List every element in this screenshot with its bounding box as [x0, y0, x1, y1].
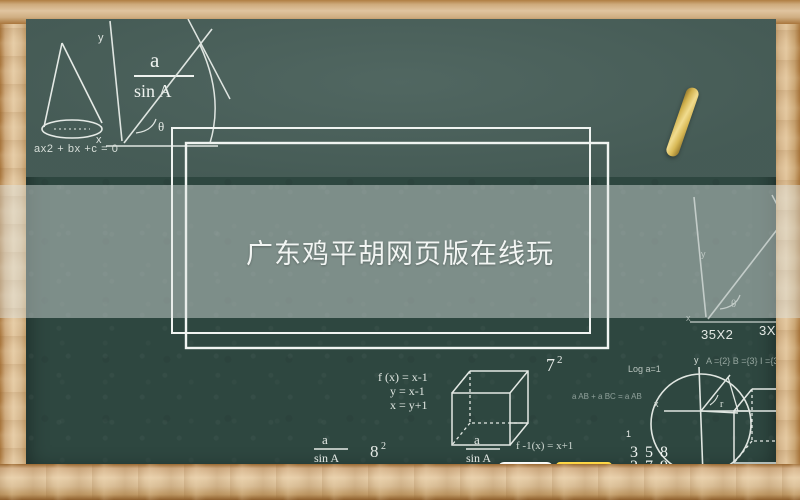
- chalk-fraction-bottommid: a sin A: [466, 432, 500, 465]
- chalk-log-label: Log a=1: [628, 364, 661, 374]
- chalk-fraction-bottomleft: a sin A: [314, 432, 348, 465]
- chalk-cube-center: [452, 371, 528, 445]
- svg-text:θ: θ: [158, 119, 164, 134]
- chalk-inverse-function: f -1(x) = x+1: [516, 440, 573, 452]
- svg-text:sin A: sin A: [314, 451, 339, 465]
- svg-text:f (x) = x-1: f (x) = x-1: [378, 370, 428, 384]
- svg-text:a: a: [322, 432, 328, 447]
- page-title: 广东鸡平胡网页版在线玩: [246, 232, 554, 271]
- chalk-multiply-3x2: 3X2: [759, 323, 776, 338]
- chalk-cube-right: [734, 389, 776, 463]
- svg-text:a: a: [150, 48, 160, 72]
- frame-bottom-ledge: [0, 464, 800, 500]
- svg-text:x: x: [654, 399, 659, 409]
- chalk-seven-squared: 7 2: [546, 354, 563, 375]
- title-overlay-band: 广东鸡平胡网页版在线玩: [0, 185, 800, 318]
- chalk-set-formula: A ={2} B ={3} I ={3}: [706, 356, 776, 366]
- chalk-faint-formula: a AB + a BC = a AB: [572, 392, 642, 401]
- svg-text:r: r: [720, 399, 724, 410]
- svg-text:sin A: sin A: [134, 81, 172, 101]
- svg-text:x = y+1: x = y+1: [390, 398, 428, 412]
- svg-text:sin A: sin A: [466, 451, 491, 465]
- svg-text:y: y: [694, 355, 699, 365]
- chalk-multiply-35x2: 35X2: [701, 327, 733, 342]
- chalk-eight-squared: 8 2: [370, 441, 386, 461]
- svg-text:y: y: [98, 32, 104, 44]
- svg-text:1: 1: [626, 429, 631, 439]
- chalk-function-equations: f (x) = x-1 y = x-1 x = y+1: [378, 370, 428, 412]
- svg-text:2: 2: [381, 441, 386, 452]
- chalk-cone-diagram: [42, 43, 102, 138]
- svg-text:8: 8: [370, 442, 379, 461]
- svg-text:y = x-1: y = x-1: [390, 384, 425, 398]
- chalk-quadratic-equation: ax2 + bx +c = 0: [34, 143, 119, 155]
- svg-text:2: 2: [557, 354, 563, 366]
- svg-text:a: a: [474, 432, 480, 447]
- screenshot-root: a sin A y x θ ax2 + bx +c = 0: [0, 0, 800, 500]
- chalk-fraction-topleft: a sin A: [134, 48, 194, 101]
- svg-text:7: 7: [546, 355, 555, 375]
